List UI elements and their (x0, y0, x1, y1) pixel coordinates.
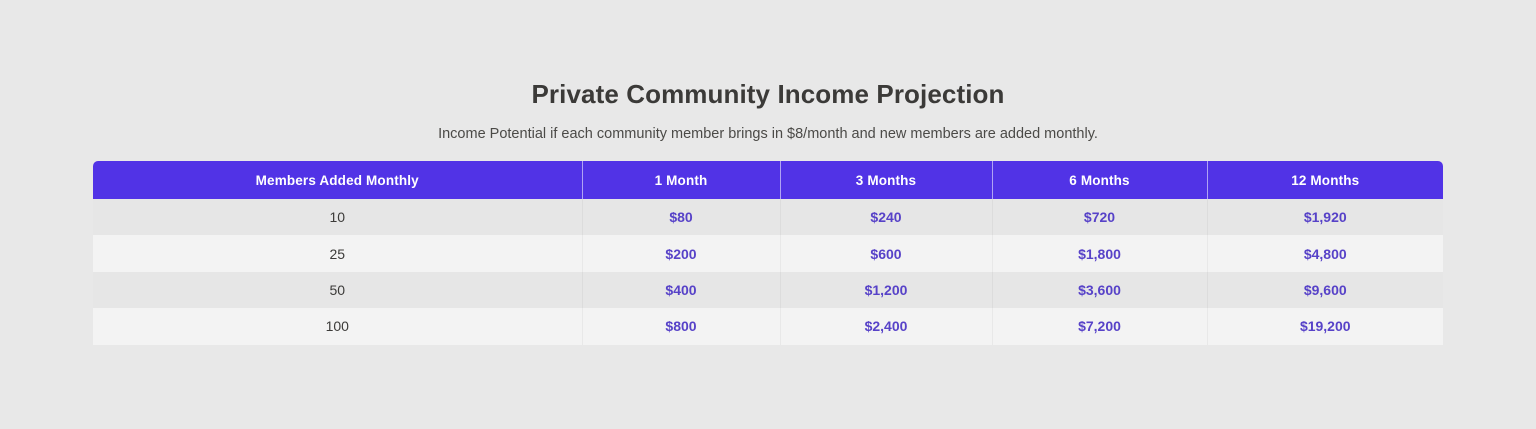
cell-6-months: $7,200 (992, 308, 1207, 344)
page-title: Private Community Income Projection (0, 78, 1536, 110)
cell-12-months: $1,920 (1207, 199, 1443, 235)
cell-6-months: $1,800 (992, 235, 1207, 271)
cell-1-month: $200 (582, 235, 780, 271)
table-header-row: Members Added Monthly 1 Month 3 Months 6… (93, 161, 1443, 199)
column-header-3-months[interactable]: 3 Months (780, 161, 992, 199)
table-row: 10 $80 $240 $720 $1,920 (93, 199, 1443, 235)
cell-3-months: $600 (780, 235, 992, 271)
cell-3-months: $2,400 (780, 308, 992, 344)
cell-12-months: $9,600 (1207, 272, 1443, 308)
income-projection-table: Members Added Monthly 1 Month 3 Months 6… (93, 161, 1443, 345)
table-header: Members Added Monthly 1 Month 3 Months 6… (93, 161, 1443, 199)
table-row: 25 $200 $600 $1,800 $4,800 (93, 235, 1443, 271)
cell-members: 10 (93, 199, 582, 235)
cell-1-month: $80 (582, 199, 780, 235)
cell-members: 25 (93, 235, 582, 271)
cell-1-month: $800 (582, 308, 780, 344)
cell-1-month: $400 (582, 272, 780, 308)
heading-block: Private Community Income Projection Inco… (0, 78, 1536, 144)
page-subtitle: Income Potential if each community membe… (0, 124, 1536, 144)
column-header-1-month[interactable]: 1 Month (582, 161, 780, 199)
cell-6-months: $3,600 (992, 272, 1207, 308)
column-header-12-months[interactable]: 12 Months (1207, 161, 1443, 199)
page-root: Private Community Income Projection Inco… (0, 0, 1536, 429)
cell-members: 50 (93, 272, 582, 308)
cell-3-months: $240 (780, 199, 992, 235)
table-row: 100 $800 $2,400 $7,200 $19,200 (93, 308, 1443, 344)
table-body: 10 $80 $240 $720 $1,920 25 $200 $600 $1,… (93, 199, 1443, 345)
projection-table-container: Members Added Monthly 1 Month 3 Months 6… (93, 161, 1443, 345)
column-header-members-added-monthly[interactable]: Members Added Monthly (93, 161, 582, 199)
cell-12-months: $4,800 (1207, 235, 1443, 271)
column-header-6-months[interactable]: 6 Months (992, 161, 1207, 199)
table-row: 50 $400 $1,200 $3,600 $9,600 (93, 272, 1443, 308)
cell-6-months: $720 (992, 199, 1207, 235)
cell-12-months: $19,200 (1207, 308, 1443, 344)
cell-3-months: $1,200 (780, 272, 992, 308)
cell-members: 100 (93, 308, 582, 344)
